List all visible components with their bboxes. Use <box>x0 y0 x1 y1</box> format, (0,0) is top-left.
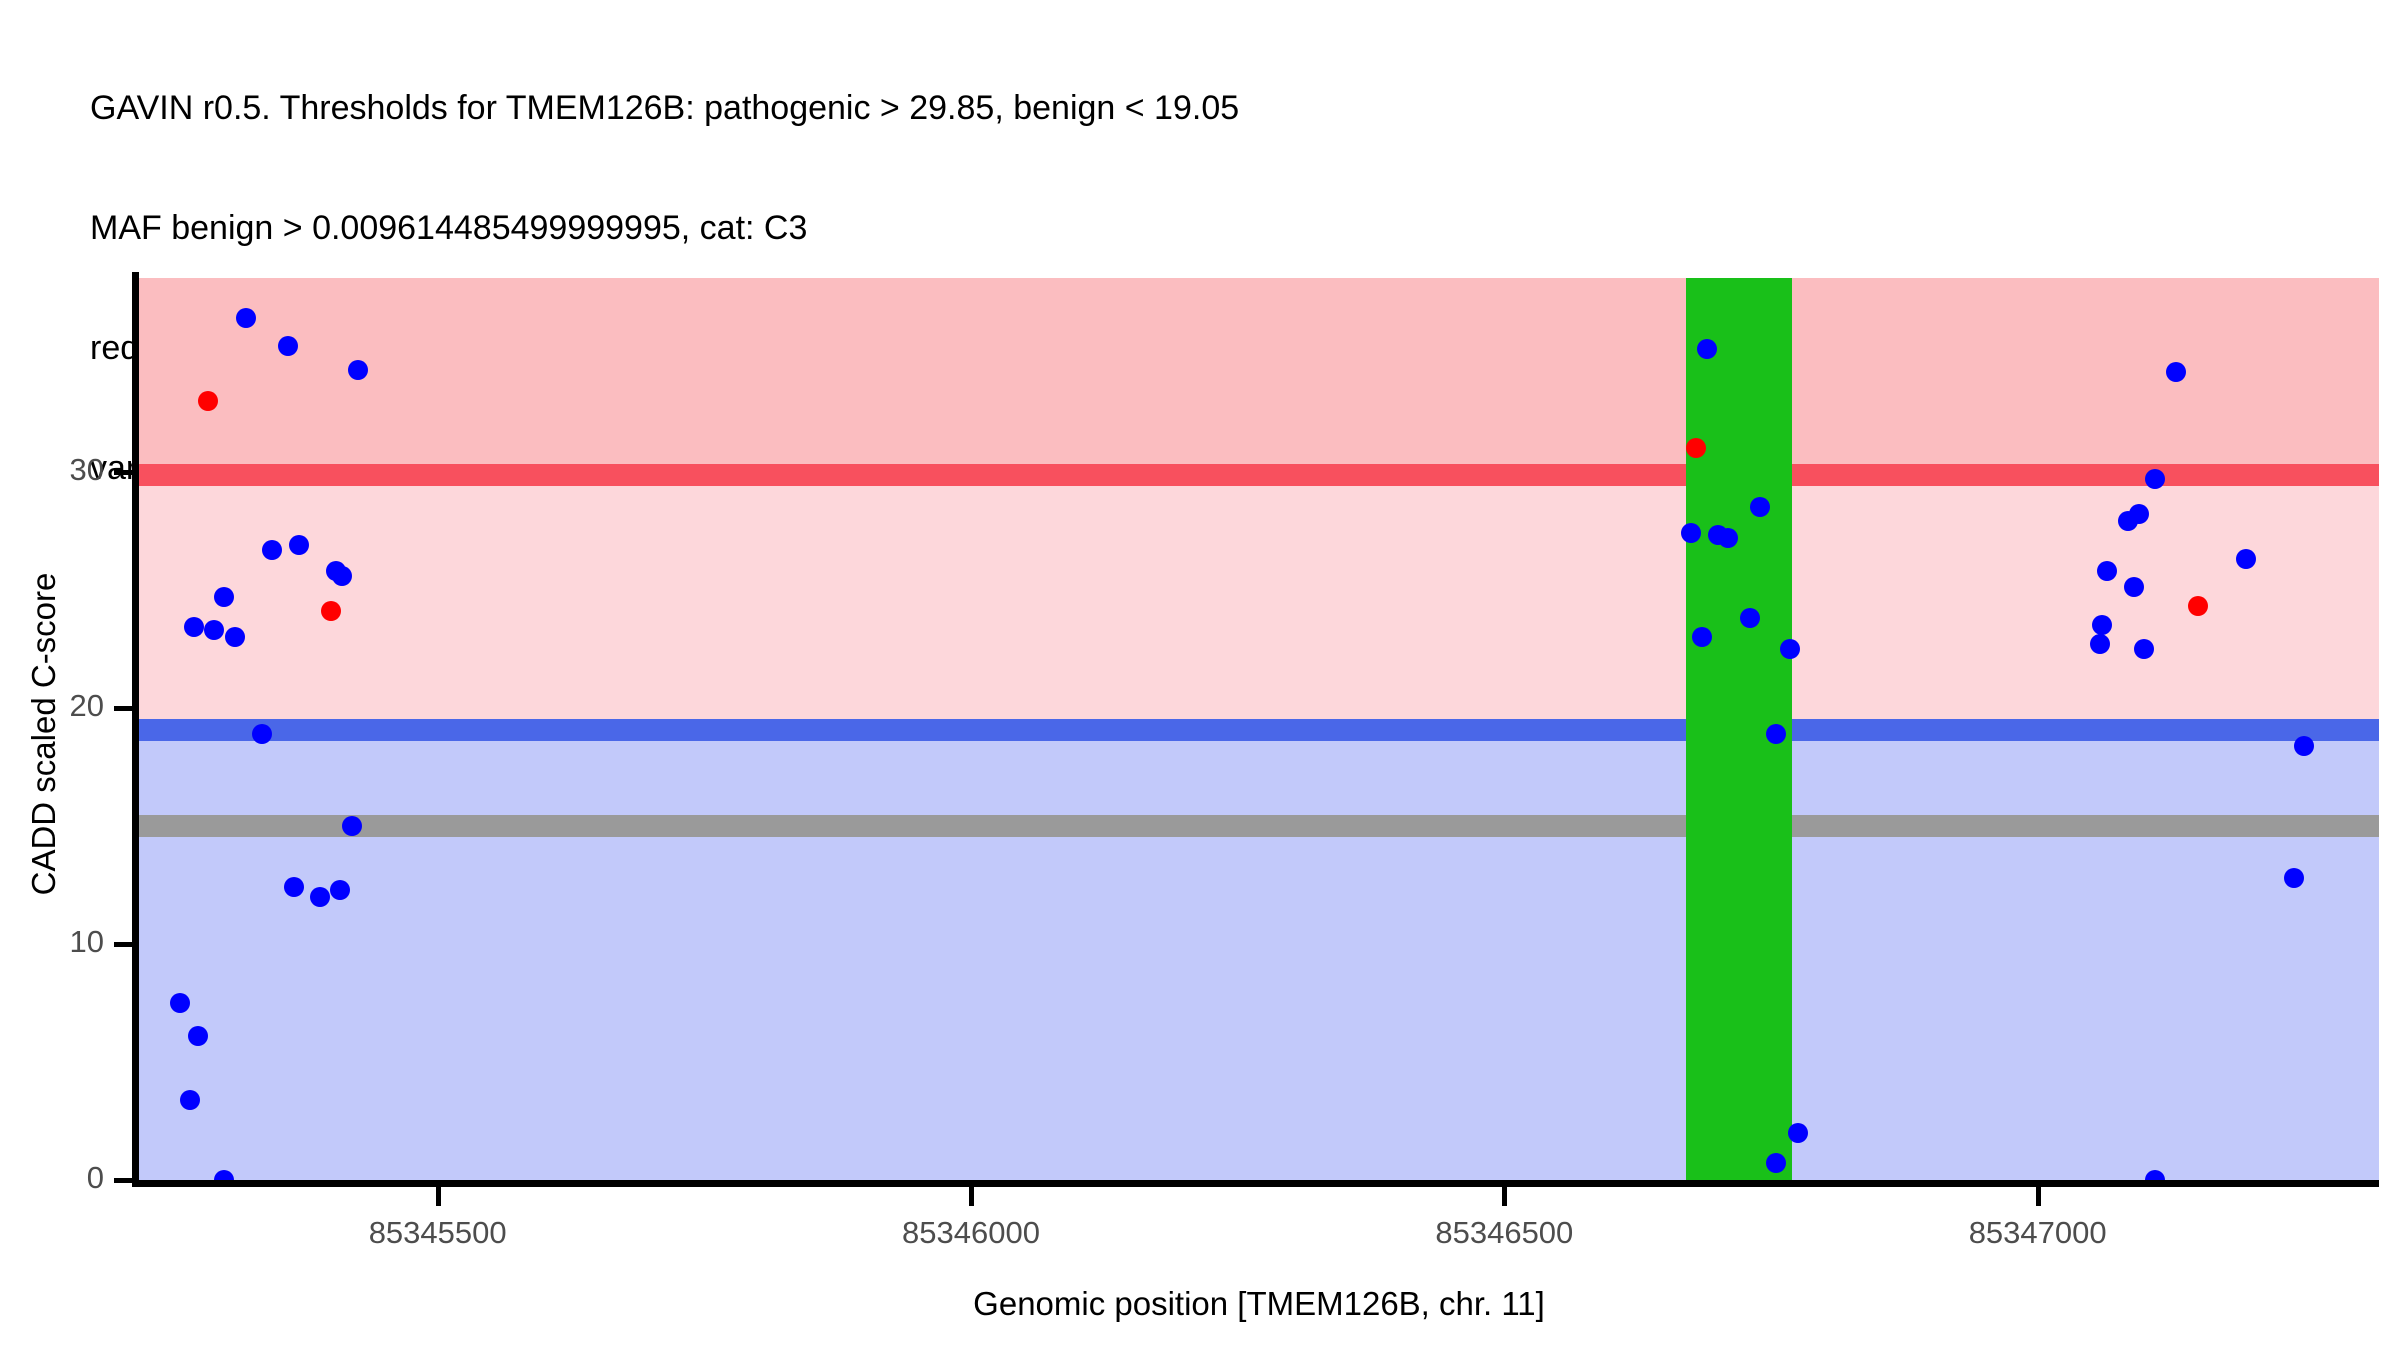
pathogenic-threshold-line <box>139 464 2379 486</box>
x-tick-label: 85347000 <box>1908 1215 2168 1251</box>
data-point-benign <box>330 880 350 900</box>
title-line-1: GAVIN r0.5. Thresholds for TMEM126B: pat… <box>90 88 2370 128</box>
data-point-benign <box>284 877 304 897</box>
data-point-benign <box>2284 868 2304 888</box>
x-axis-title: Genomic position [TMEM126B, chr. 11] <box>139 1285 2379 1323</box>
benign-threshold-line <box>139 719 2379 741</box>
data-point-benign <box>214 587 234 607</box>
x-tick-label: 85346500 <box>1374 1215 1634 1251</box>
data-point-benign <box>1740 608 1760 628</box>
data-point-benign <box>2097 561 2117 581</box>
data-point-benign <box>1788 1123 1808 1143</box>
title-line-2: MAF benign > 0.009614485499999995, cat: … <box>90 208 2370 248</box>
chart-figure: GAVIN r0.5. Thresholds for TMEM126B: pat… <box>0 0 2400 1350</box>
x-tick-mark <box>1502 1187 1507 1206</box>
plot-panel <box>139 278 2379 1180</box>
data-point-benign <box>342 816 362 836</box>
data-point-benign <box>1708 525 1728 545</box>
data-point-benign <box>1681 523 1701 543</box>
data-point-benign <box>348 360 368 380</box>
data-point-benign <box>225 627 245 647</box>
x-tick-label: 85346000 <box>841 1215 1101 1251</box>
data-point-benign <box>204 620 224 640</box>
x-tick-mark <box>2036 1187 2041 1206</box>
data-point-benign <box>2236 549 2256 569</box>
data-point-benign <box>1697 339 1717 359</box>
data-point-pathogenic <box>198 391 218 411</box>
data-point-benign <box>310 887 330 907</box>
data-point-benign <box>2134 639 2154 659</box>
data-point-pathogenic <box>321 601 341 621</box>
data-point-benign <box>262 540 282 560</box>
data-point-pathogenic <box>2188 596 2208 616</box>
data-point-benign <box>2145 469 2165 489</box>
data-point-benign <box>332 566 352 586</box>
data-point-benign <box>2124 577 2144 597</box>
y-axis-title: CADD scaled C-score <box>25 414 63 1054</box>
data-point-benign <box>1692 627 1712 647</box>
x-tick-mark <box>969 1187 974 1206</box>
x-axis-line <box>132 1180 2379 1187</box>
data-point-benign <box>2294 736 2314 756</box>
data-point-benign <box>1766 724 1786 744</box>
data-point-benign <box>2092 615 2112 635</box>
y-tick-label: 0 <box>0 1160 104 1196</box>
y-tick-mark <box>114 942 133 947</box>
data-point-benign <box>180 1090 200 1110</box>
data-point-benign <box>236 308 256 328</box>
data-point-benign <box>188 1026 208 1046</box>
zone-band-uncertain <box>139 475 2379 730</box>
x-tick-label: 85345500 <box>308 1215 568 1251</box>
data-point-benign <box>1780 639 1800 659</box>
y-tick-mark <box>114 470 133 475</box>
data-point-benign <box>289 535 309 555</box>
y-tick-mark <box>114 706 133 711</box>
fallback-threshold-line <box>139 815 2379 837</box>
y-tick-mark <box>114 1178 133 1183</box>
y-axis-line <box>132 272 139 1186</box>
data-point-benign <box>252 724 272 744</box>
data-point-benign <box>2090 634 2110 654</box>
zone-band-pathogenic <box>139 278 2379 475</box>
zone-band-benign <box>139 730 2379 1180</box>
x-tick-mark <box>436 1187 441 1206</box>
data-point-benign <box>170 993 190 1013</box>
